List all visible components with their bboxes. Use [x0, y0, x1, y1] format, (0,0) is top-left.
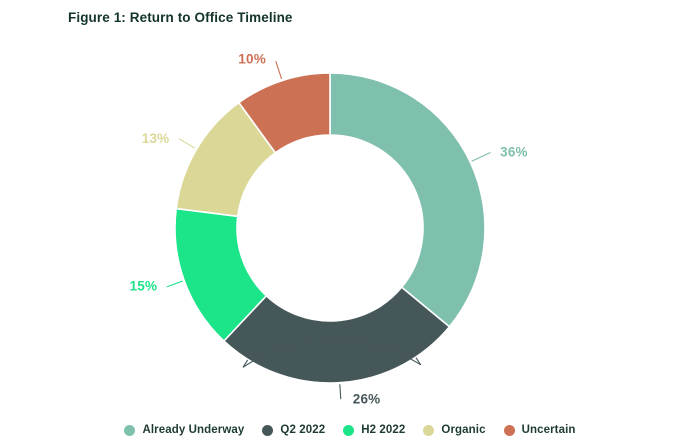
legend-swatch-icon: [124, 425, 135, 436]
slice-value-label: 26%: [353, 392, 381, 405]
legend-item-label: Uncertain: [522, 424, 576, 436]
donut-chart: Already Underway 36%Q2 2022 26%H2 2022 1…: [0, 0, 700, 405]
leader-line: [179, 139, 194, 148]
legend-item[interactable]: Organic: [423, 424, 485, 436]
legend-swatch-icon: [262, 425, 273, 436]
donut-slices: Already Underway 36%Q2 2022 26%H2 2022 1…: [175, 73, 485, 383]
legend-item-label: Organic: [441, 424, 485, 436]
leader-line: [472, 153, 490, 162]
legend-swatch-icon: [504, 425, 515, 436]
leader-line: [340, 385, 341, 399]
legend-item[interactable]: Q2 2022: [262, 424, 325, 436]
slice-value-label: 36%: [500, 145, 528, 160]
legend-swatch-icon: [343, 425, 354, 436]
donut-slice[interactable]: Already Underway 36%: [330, 73, 485, 327]
legend-item[interactable]: Already Underway: [124, 424, 244, 436]
legend-item[interactable]: H2 2022: [343, 424, 405, 436]
legend-item-label: H2 2022: [361, 424, 405, 436]
leader-line: [167, 281, 182, 286]
slice-value-label: 13%: [142, 131, 170, 146]
legend-item-label: Q2 2022: [280, 424, 325, 436]
figure-container: Figure 1: Return to Office Timeline Alre…: [0, 0, 700, 447]
slice-value-label: 15%: [130, 279, 158, 294]
slice-value-label: 10%: [238, 52, 266, 67]
legend-item[interactable]: Uncertain: [504, 424, 576, 436]
donut-chart-svg: Already Underway 36%Q2 2022 26%H2 2022 1…: [0, 0, 700, 405]
leader-line: [276, 62, 282, 79]
chart-legend: Already UnderwayQ2 2022H2 2022OrganicUnc…: [0, 418, 700, 442]
legend-item-label: Already Underway: [142, 424, 244, 436]
legend-swatch-icon: [423, 425, 434, 436]
